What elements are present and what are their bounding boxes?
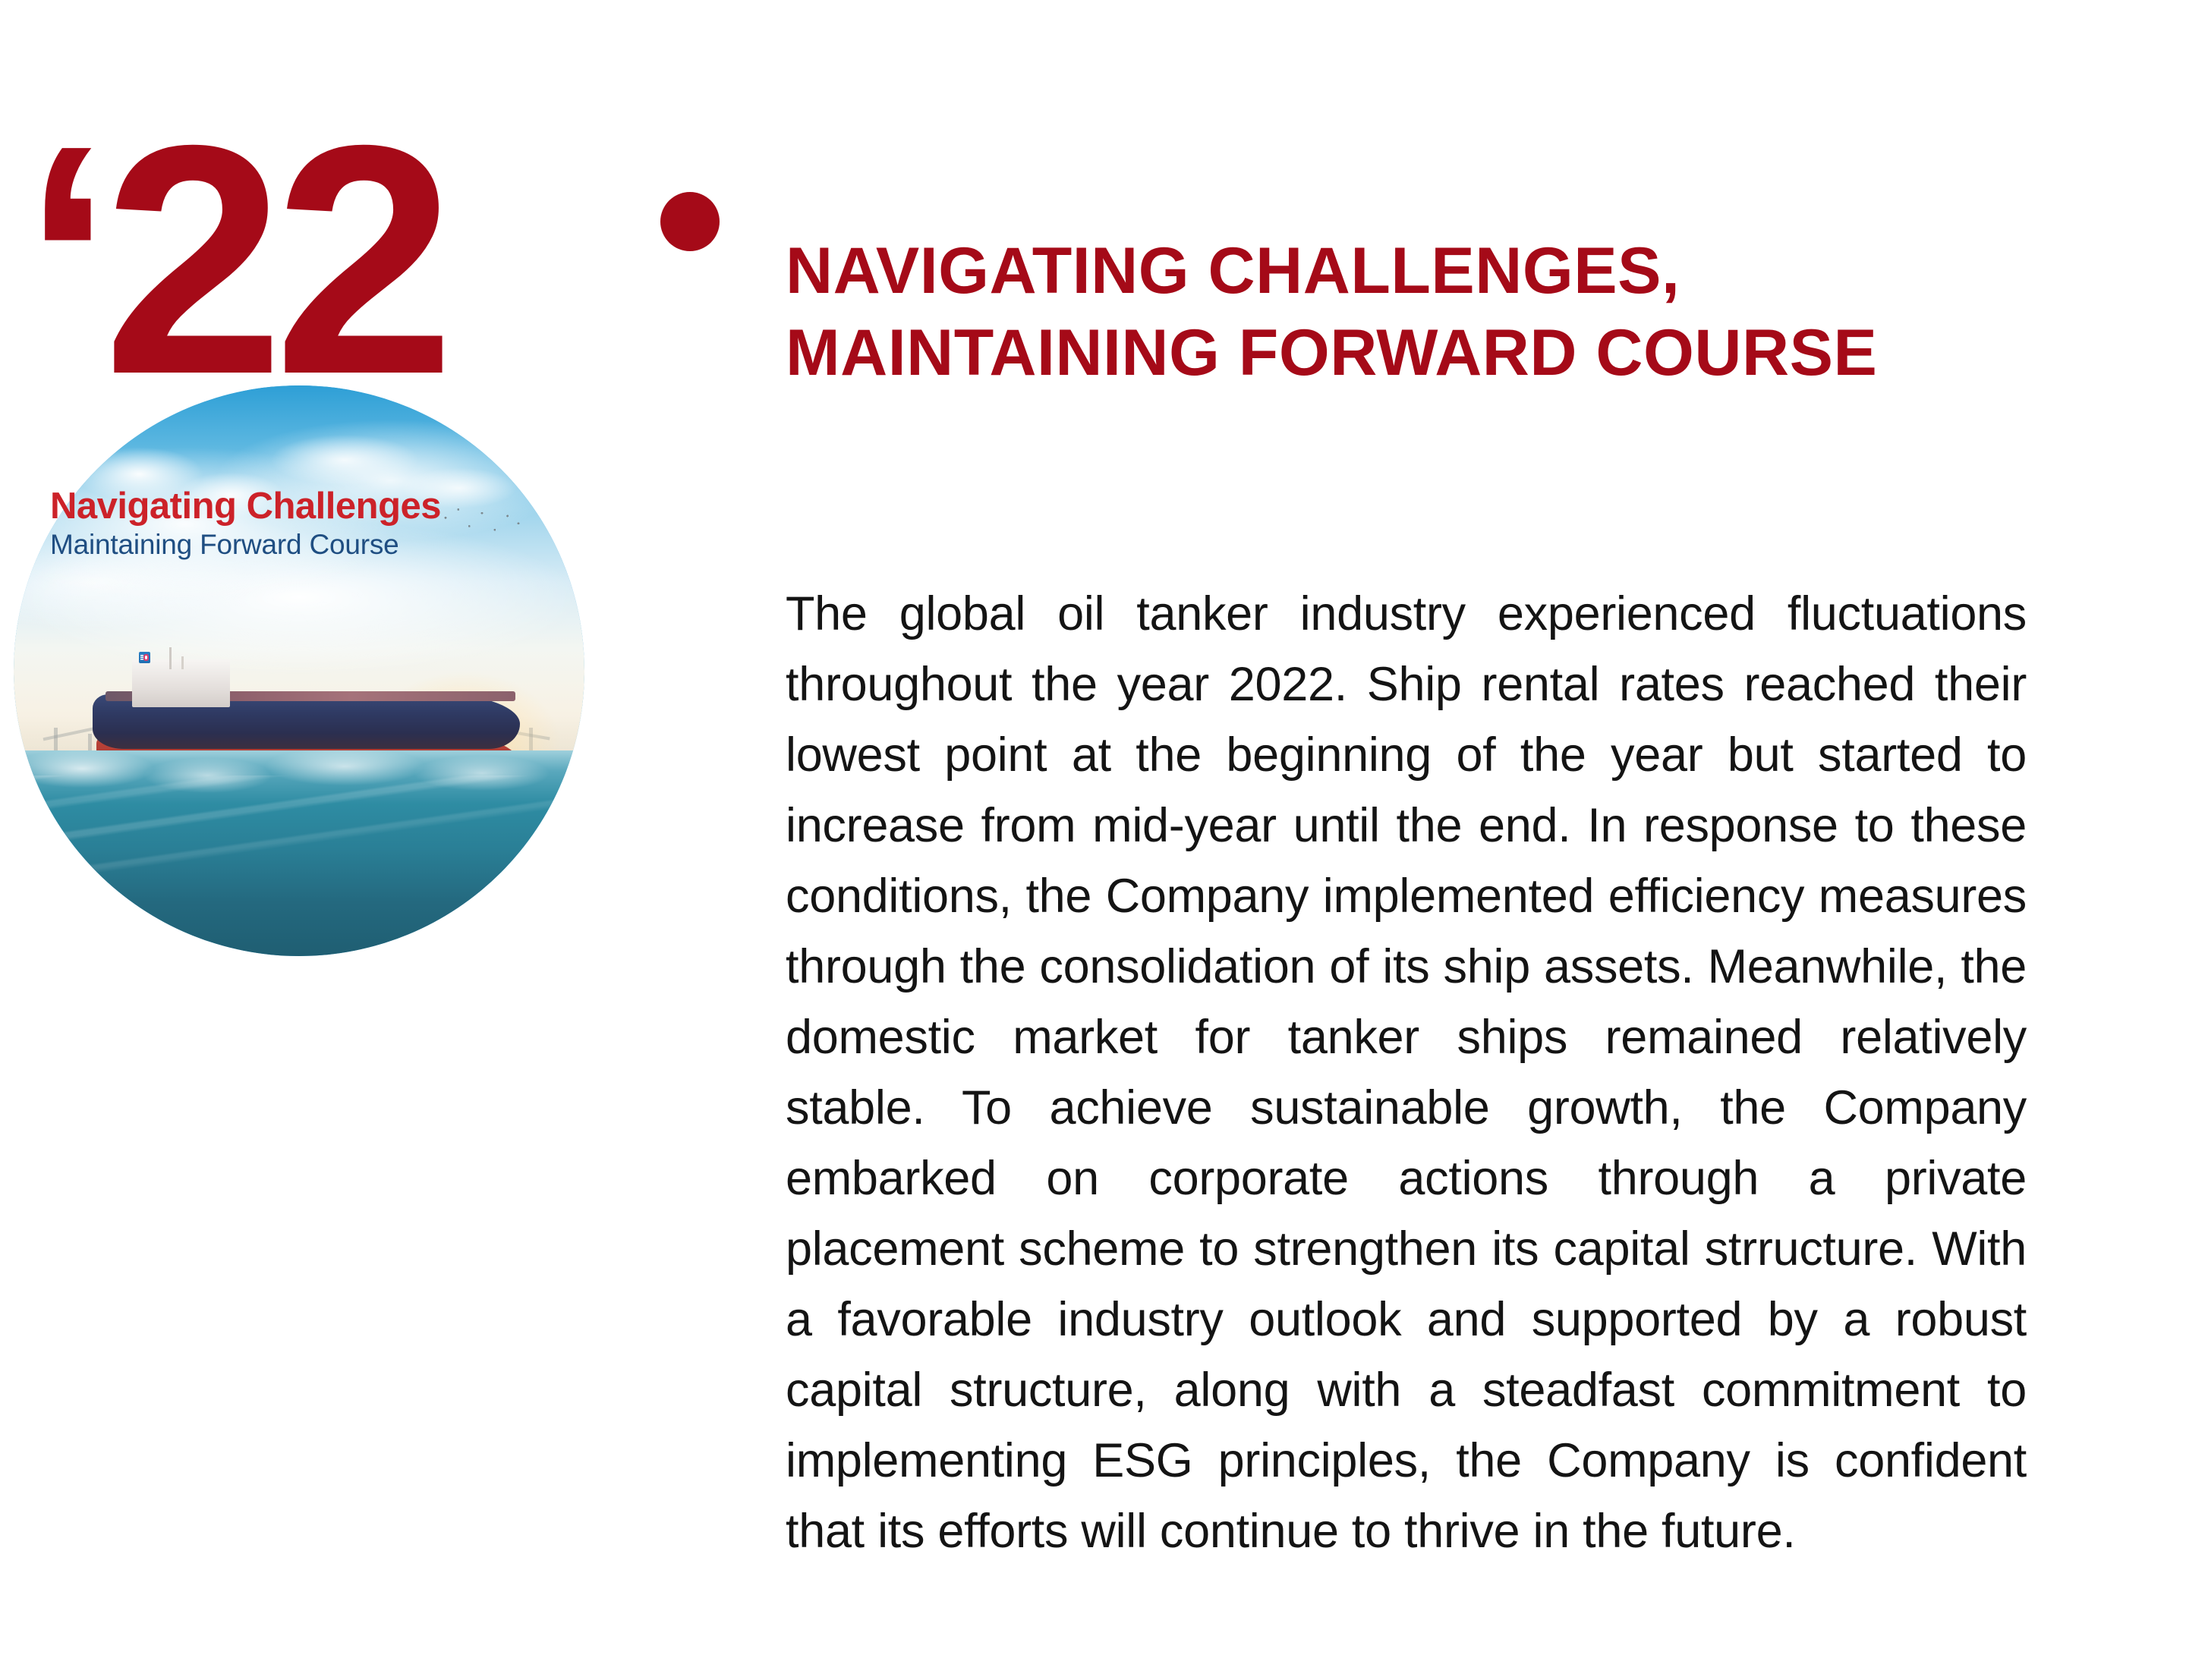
sea-water xyxy=(14,750,584,956)
ship-mast xyxy=(181,656,184,669)
right-content-column: NAVIGATING CHALLENGES, MAINTAINING FORWA… xyxy=(660,0,2133,1680)
section-body-paragraph: The global oil tanker industry experienc… xyxy=(786,579,2027,1567)
funnel-stripes xyxy=(140,655,143,660)
cover-caption-subtitle: Maintaining Forward Course xyxy=(50,528,536,562)
section-title: NAVIGATING CHALLENGES, MAINTAINING FORWA… xyxy=(786,230,2121,394)
section-heading-row: NAVIGATING CHALLENGES, MAINTAINING FORWA… xyxy=(660,186,2133,437)
cover-photo-circle xyxy=(14,385,584,956)
cover-caption: Navigating Challenges Maintaining Forwar… xyxy=(50,486,536,562)
ship-mast xyxy=(169,647,172,669)
funnel-logo-icon xyxy=(143,654,149,660)
cover-caption-title: Navigating Challenges xyxy=(50,486,536,527)
left-visual-column: ‘22 xyxy=(0,0,607,1680)
ship-superstructure xyxy=(132,659,230,707)
year-badge-22: ‘22 xyxy=(23,97,445,423)
bullet-dot-icon xyxy=(660,192,720,251)
ship-funnel xyxy=(139,652,150,663)
underwater-light-rays xyxy=(14,776,584,956)
